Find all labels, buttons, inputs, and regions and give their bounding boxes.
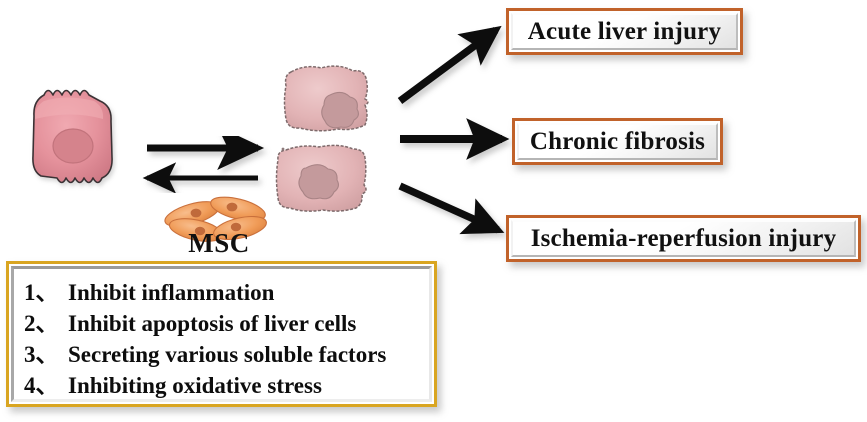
outcome-label-acute-liver-injury: Acute liver injury (528, 18, 721, 46)
list-item: 4、 Inhibiting oxidative stress (24, 366, 425, 397)
arrow-to-ischemia-reperfusion-injury (400, 186, 498, 230)
outcome-box-ischemia-reperfusion-injury[interactable]: Ischemia-reperfusion injury (506, 215, 861, 262)
outcome-label-ischemia-reperfusion-injury: Ischemia-reperfusion injury (531, 225, 837, 253)
outcome-box-bevel: Chronic fibrosis (517, 123, 718, 160)
list-item-number: 4、 (24, 366, 68, 400)
list-item-label: Inhibiting oxidative stress (68, 373, 322, 399)
list-item-label: Secreting various soluble factors (68, 342, 386, 368)
list-item: 3、 Secreting various soluble factors (24, 335, 425, 366)
outcome-label-chronic-fibrosis: Chronic fibrosis (530, 128, 705, 156)
mechanism-list-bevel: 1、 Inhibit inflammation 2、 Inhibit apopt… (11, 266, 432, 402)
list-item-label: Inhibit inflammation (68, 280, 274, 306)
msc-label: MSC (178, 228, 260, 259)
arrow-to-acute-liver-injury (400, 30, 496, 101)
list-item: 2、 Inhibit apoptosis of liver cells (24, 304, 425, 335)
outcome-box-bevel: Ischemia-reperfusion injury (511, 220, 856, 257)
list-item-number: 2、 (24, 304, 68, 338)
list-item-label: Inhibit apoptosis of liver cells (68, 311, 356, 337)
msc-liver-therapy-diagram: MSC Acute liver injury Chronic fibrosis … (0, 0, 867, 422)
outcome-box-chronic-fibrosis[interactable]: Chronic fibrosis (512, 118, 723, 165)
hepatocyte-nucleus (53, 129, 93, 163)
hepatocyte-cell (33, 91, 112, 183)
list-item-number: 1、 (24, 273, 68, 307)
damaged-liver-cells (277, 66, 369, 211)
list-item-number: 3、 (24, 335, 68, 369)
outcome-box-bevel: Acute liver injury (511, 13, 738, 50)
mechanism-list-box: 1、 Inhibit inflammation 2、 Inhibit apopt… (6, 261, 437, 407)
outcome-box-acute-liver-injury[interactable]: Acute liver injury (506, 8, 743, 55)
list-item: 1、 Inhibit inflammation (24, 273, 425, 304)
